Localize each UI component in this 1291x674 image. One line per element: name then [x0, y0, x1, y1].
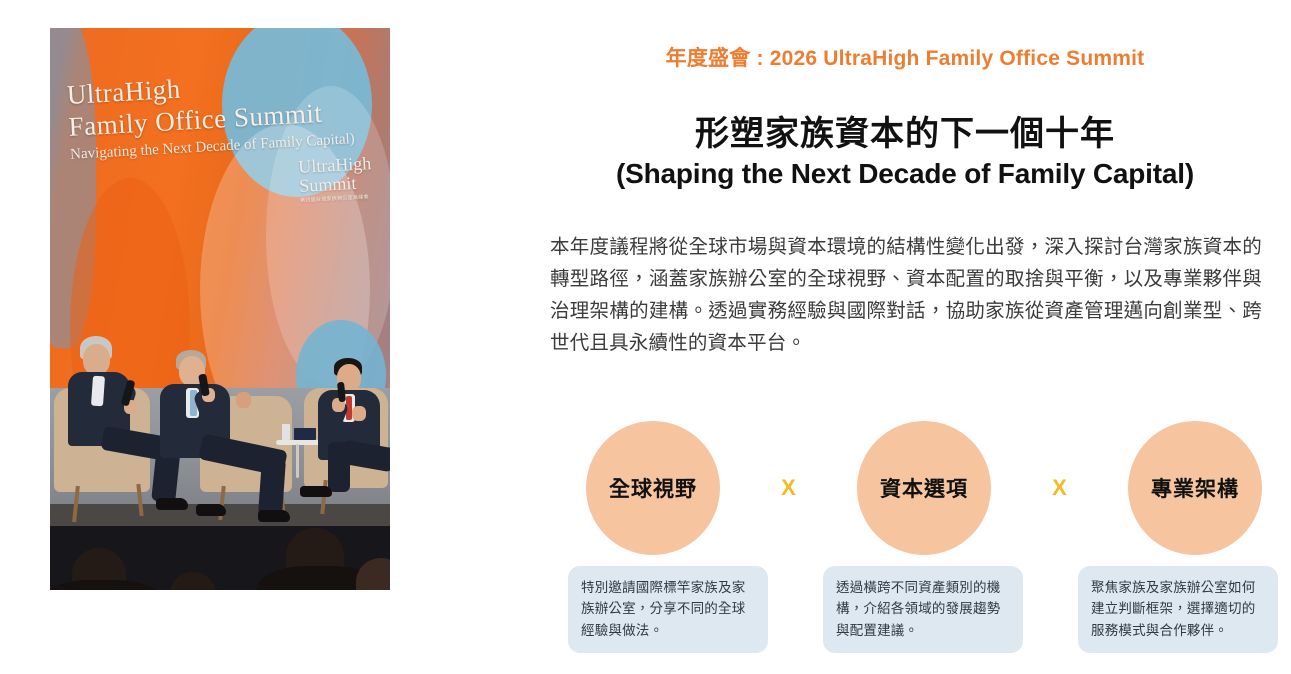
- summit-logo: UltraHigh Summit 第四屆台灣家族辦公室高峰會: [298, 154, 373, 204]
- panelist-right-leg2: [328, 442, 350, 492]
- pillars-row: 全球視野 X 資本選項 X 專業架構: [586, 418, 1262, 558]
- agenda-description: 本年度議程將從全球市場與資本環境的結構性變化出發，深入探討台灣家族資本的轉型路徑…: [550, 232, 1262, 360]
- panelist-right-shoe: [300, 486, 332, 497]
- page-title-en: (Shaping the Next Decade of Family Capit…: [548, 158, 1262, 190]
- caption-box-capital-options: 透過橫跨不同資產類別的機構，介紹各領域的發展趨勢與配置建議。: [823, 566, 1023, 653]
- page-title-zh: 形塑家族資本的下一個十年: [548, 106, 1262, 155]
- panelist-center-shoe2: [196, 504, 226, 516]
- stage-backdrop: UltraHigh Family Office Summit Navigatin…: [50, 28, 390, 388]
- slide-root: UltraHigh Family Office Summit Navigatin…: [0, 0, 1291, 674]
- summit-logo-line2: Summit: [299, 173, 373, 196]
- water-glass: [282, 424, 290, 440]
- caption-box-professional-structure: 聚焦家族及家族辦公室如何建立判斷框架，選擇適切的服務模式與合作夥伴。: [1078, 566, 1278, 653]
- side-table-leg: [296, 444, 299, 478]
- content-panel: 年度盛會 : 2026 UltraHigh Family Office Summ…: [548, 0, 1262, 674]
- pillar-label-professional-structure: 專業架構: [1151, 473, 1239, 503]
- pillar-separator-2: X: [1048, 475, 1071, 501]
- panelist-center-shoe: [258, 510, 290, 522]
- pillar-circle-capital-options: 資本選項: [857, 421, 991, 555]
- pillar-circle-global-view: 全球視野: [586, 421, 720, 555]
- pillar-circle-professional-structure: 專業架構: [1128, 421, 1262, 555]
- panelist-left-shirt: [91, 376, 105, 407]
- panelist-left-head: [83, 344, 110, 375]
- panelist-center-leg2: [258, 457, 286, 517]
- captions-row: 特別邀請國際標竿家族及家族辦公室，分享不同的全球經驗與做法。 透過橫跨不同資產類…: [568, 566, 1278, 653]
- panelist-right-hand2: [352, 406, 366, 421]
- panelist-center-hand2: [236, 392, 251, 408]
- pillar-separator-1: X: [777, 475, 800, 501]
- event-eyebrow: 年度盛會 : 2026 UltraHigh Family Office Summ…: [548, 42, 1262, 72]
- table-card: [294, 428, 316, 440]
- pillar-label-capital-options: 資本選項: [880, 473, 968, 503]
- caption-box-global-view: 特別邀請國際標竿家族及家族辦公室，分享不同的全球經驗與做法。: [568, 566, 768, 653]
- panel-discussion-photo: UltraHigh Family Office Summit Navigatin…: [50, 28, 390, 590]
- backdrop-banner-text: UltraHigh Family Office Summit Navigatin…: [66, 64, 355, 164]
- panelist-left-shoe: [156, 498, 188, 510]
- pillar-label-global-view: 全球視野: [609, 473, 697, 503]
